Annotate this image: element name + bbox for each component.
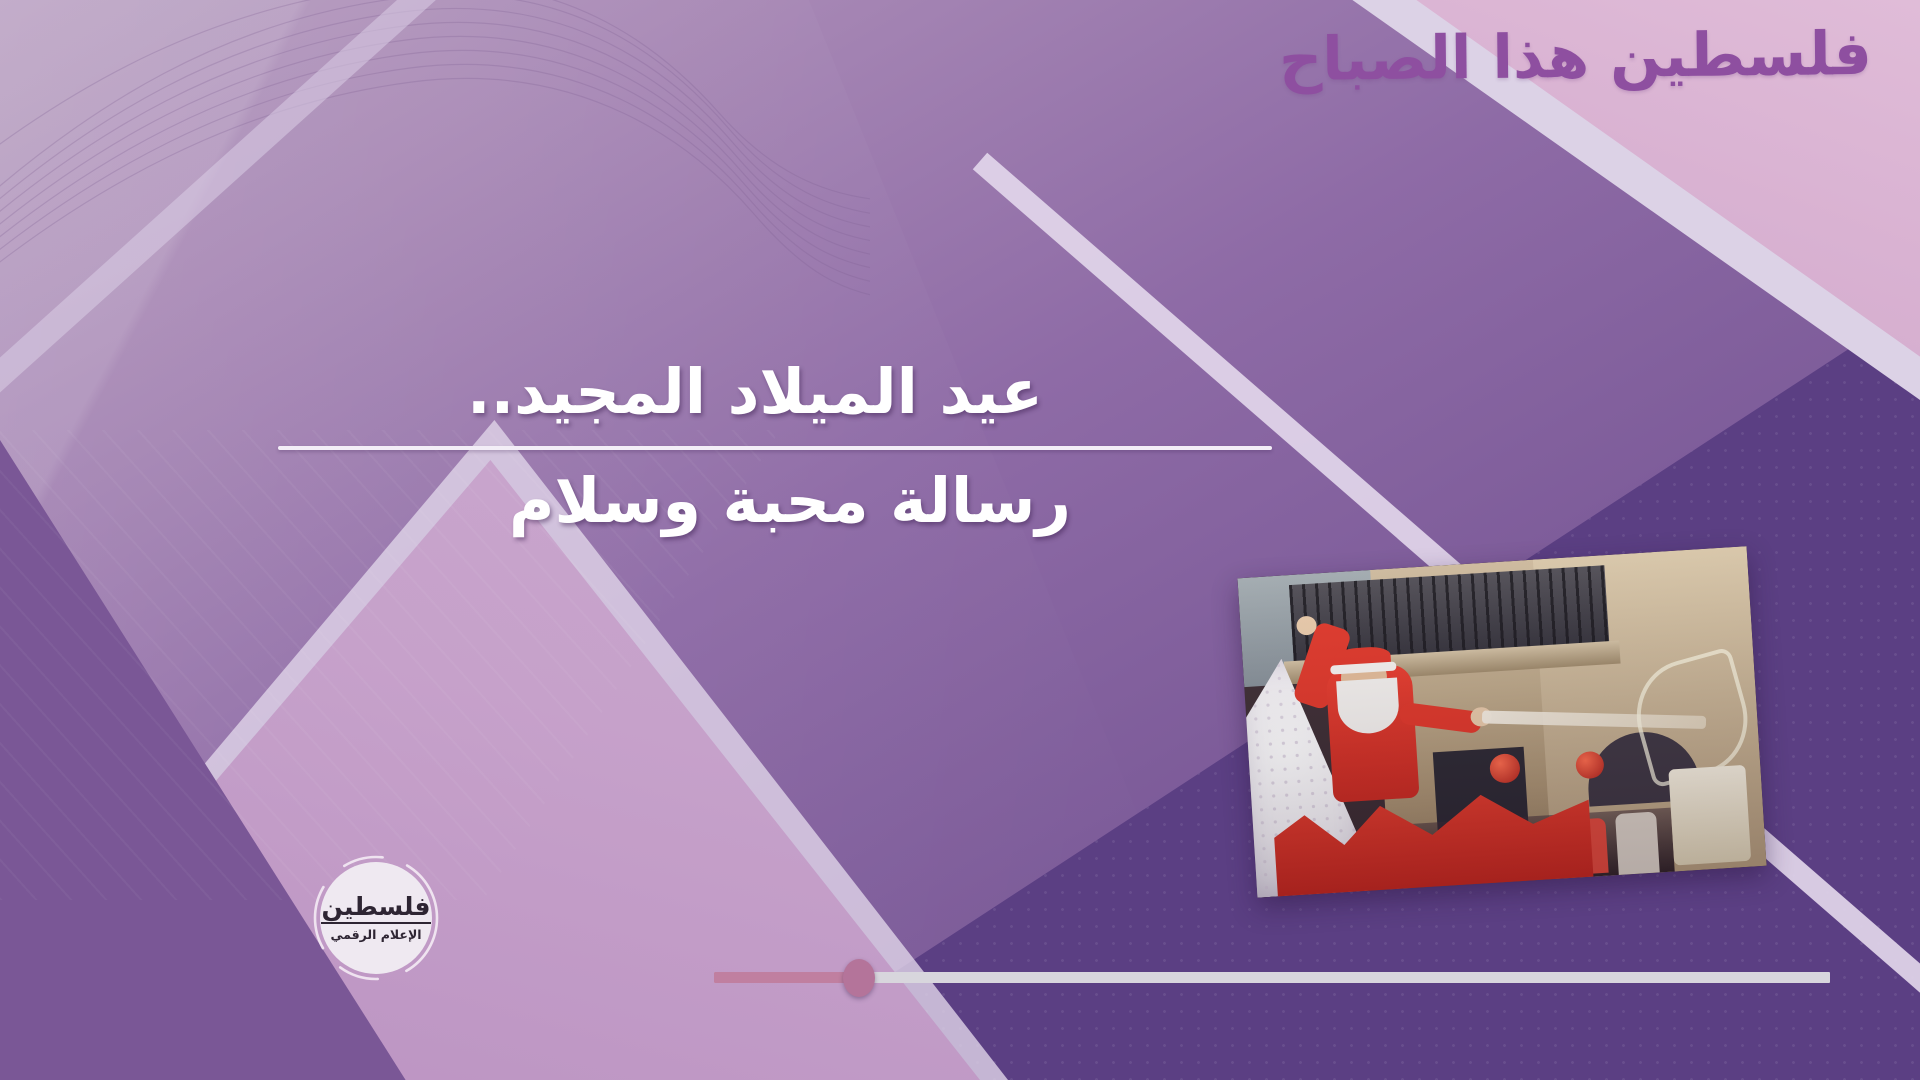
progress-fill	[714, 972, 859, 983]
headline-block: عيد الميلاد المجيد.. رسالة محبة وسلام	[270, 355, 1280, 537]
thumbnail-color-grade	[1237, 546, 1766, 897]
video-progress-bar[interactable]	[714, 968, 1830, 984]
progress-thumb-handle[interactable]	[843, 959, 875, 997]
progress-track[interactable]	[714, 972, 1830, 983]
logo-name: فلسطين	[321, 894, 430, 923]
channel-logo[interactable]: فلسطين الإعلام الرقمي	[320, 862, 432, 974]
video-thumbnail[interactable]	[1237, 546, 1766, 897]
broadcast-slide: فلسطين هذا الصباح عيد الميلاد المجيد.. ر…	[0, 0, 1920, 1080]
headline-line-1: عيد الميلاد المجيد..	[270, 355, 1280, 428]
headline-divider	[278, 446, 1272, 450]
thumbnail-scene	[1237, 546, 1766, 897]
program-brand-title: فلسطين هذا الصباح	[1279, 19, 1873, 95]
headline-line-2: رسالة محبة وسلام	[270, 464, 1280, 537]
logo-disc: فلسطين الإعلام الرقمي	[320, 862, 432, 974]
logo-tagline: الإعلام الرقمي	[330, 927, 421, 942]
